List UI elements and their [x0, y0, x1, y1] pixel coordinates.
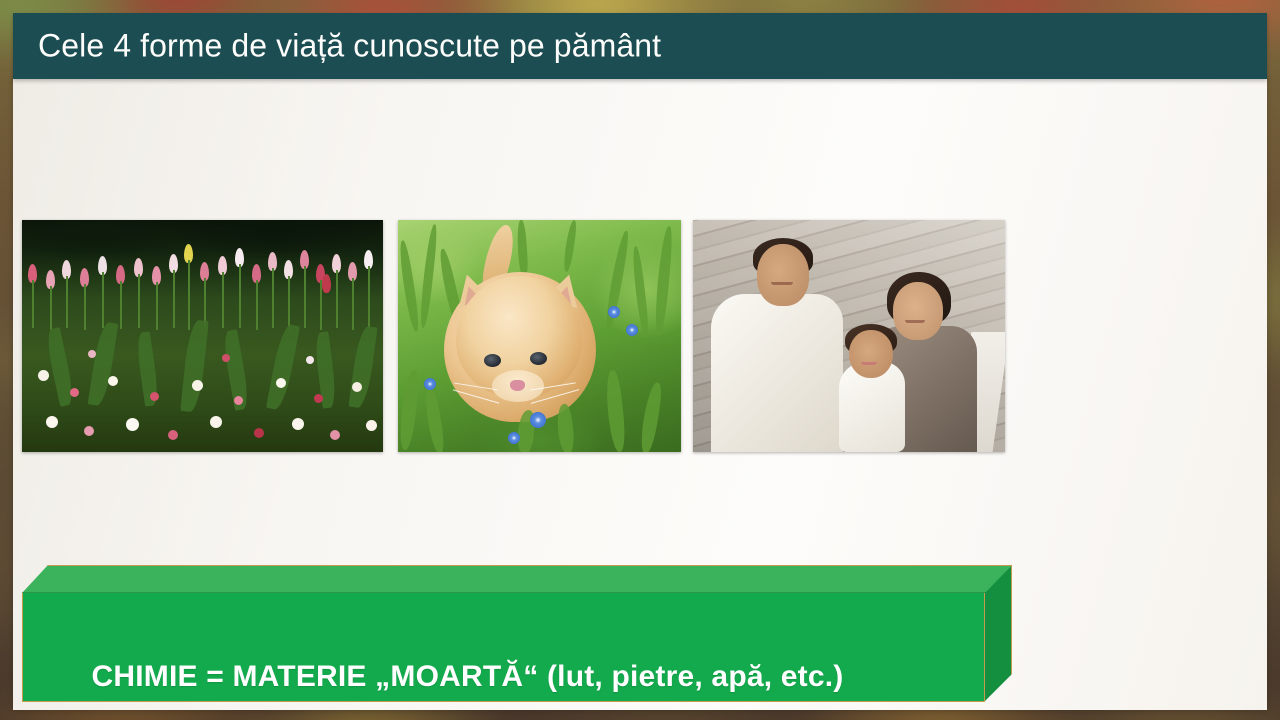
chemistry-banner: CHIMIE = MATERIE „MOARTĂ“ (lut, pietre, …	[22, 565, 1012, 702]
page-title: Cele 4 forme de viață cunoscute pe pămân…	[38, 28, 661, 65]
flower-field-photo	[22, 220, 383, 452]
slide-stage: Cele 4 forme de viață cunoscute pe pămân…	[0, 0, 1280, 720]
slide-title-bar: Cele 4 forme de viață cunoscute pe pămân…	[13, 13, 1267, 79]
family-image	[693, 220, 1005, 452]
kitten-image	[398, 220, 681, 452]
father-figure	[711, 294, 843, 452]
banner-text: CHIMIE = MATERIE „MOARTĂ“ (lut, pietre, …	[91, 660, 843, 694]
flower-field-image	[22, 220, 383, 452]
banner-front-face: CHIMIE = MATERIE „MOARTĂ“ (lut, pietre, …	[22, 593, 985, 702]
banner-top-face	[22, 565, 1012, 593]
family-photo	[693, 220, 1005, 452]
kitten-photo	[398, 220, 681, 452]
